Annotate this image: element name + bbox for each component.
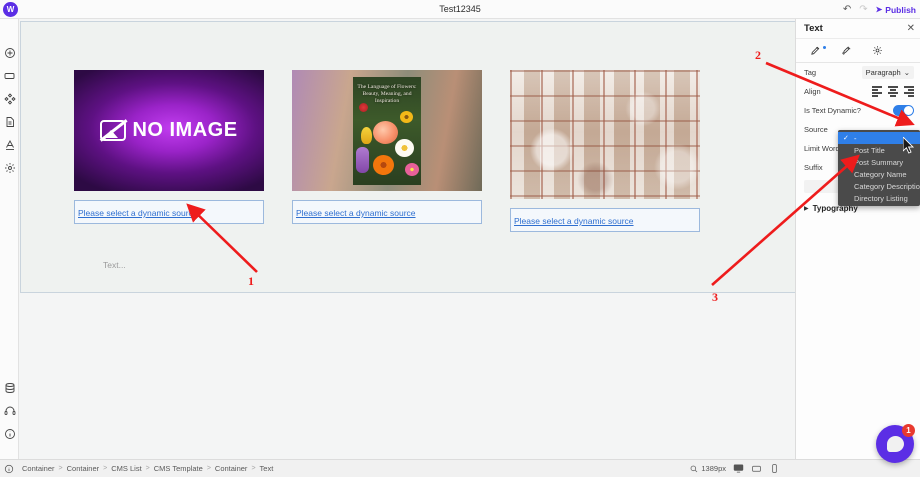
panel-title: Text xyxy=(804,23,823,34)
breadcrumb-separator: > xyxy=(207,465,211,472)
flower-shape xyxy=(395,139,414,157)
zoom-value: 1389px xyxy=(701,464,726,473)
card-media: The Language of Flowers: Beauty, Meaning… xyxy=(292,70,482,191)
image-off-icon xyxy=(100,120,126,141)
breadcrumb-separator: > xyxy=(103,465,107,472)
rocket-icon: ➤ xyxy=(876,5,883,14)
row-is-text-dynamic: Is Text Dynamic? xyxy=(796,101,920,120)
row-tag: Tag Paragraph ⌄ xyxy=(796,63,920,82)
cms-item-card[interactable]: The Language of Flowers: Beauty, Meaning… xyxy=(292,70,482,224)
book-cover-image: The Language of Flowers: Beauty, Meaning… xyxy=(353,77,421,185)
zoom-indicator[interactable]: 1389px xyxy=(690,464,726,473)
left-rail-top-group xyxy=(0,41,19,179)
align-right-icon[interactable] xyxy=(902,86,914,98)
dynamic-source-link[interactable]: Please select a dynamic source xyxy=(514,216,634,226)
redo-icon[interactable]: ↷ xyxy=(859,4,867,15)
card-media xyxy=(510,70,700,199)
info-circle-icon[interactable] xyxy=(0,422,19,445)
add-element-icon[interactable] xyxy=(0,41,19,64)
text-a-icon[interactable] xyxy=(0,133,19,156)
flower-shape xyxy=(373,155,394,175)
support-headset-icon[interactable] xyxy=(0,399,19,422)
caret-right-icon: ▶ xyxy=(804,205,809,212)
tab-active-dot xyxy=(823,46,826,49)
close-icon[interactable]: ✕ xyxy=(907,23,915,34)
dynamic-source-link[interactable]: Please select a dynamic source xyxy=(78,208,198,218)
annotation-number-1: 1 xyxy=(248,274,254,289)
magnifier-icon xyxy=(690,465,698,473)
cms-item-card[interactable]: NO IMAGE Please select a dynamic source xyxy=(74,70,264,224)
dropdown-option[interactable]: Category Name xyxy=(838,168,920,180)
source-label: Source xyxy=(804,125,828,134)
breadcrumb: Container > Container > CMS List > CMS T… xyxy=(22,464,273,473)
cms-item-card[interactable]: Please select a dynamic source xyxy=(510,70,700,232)
no-image-placeholder: NO IMAGE xyxy=(74,70,264,191)
row-align: Align xyxy=(796,82,920,101)
dropdown-option[interactable]: Directory Listing xyxy=(838,192,920,204)
bottom-bar: Container > Container > CMS List > CMS T… xyxy=(0,459,920,477)
dynamic-source-link[interactable]: Please select a dynamic source xyxy=(296,208,416,218)
panel-tabs xyxy=(796,39,920,63)
tablet-icon[interactable] xyxy=(751,463,762,474)
breadcrumb-item[interactable]: Text xyxy=(260,464,274,473)
bottom-bar-right: 1389px xyxy=(690,463,780,474)
app-root: W Test12345 ↶ ↷ ➤ Publish xyxy=(0,0,920,477)
breadcrumb-separator: > xyxy=(146,465,150,472)
chat-widget[interactable]: 1 xyxy=(876,425,914,463)
chat-badge: 1 xyxy=(902,424,915,437)
undo-icon[interactable]: ↶ xyxy=(843,4,851,15)
panel-header: Text ✕ xyxy=(796,19,920,39)
mobile-icon[interactable] xyxy=(769,463,780,474)
no-image-label: NO IMAGE xyxy=(132,119,237,142)
dynamic-source-link-box[interactable]: Please select a dynamic source xyxy=(74,200,264,224)
align-button-group xyxy=(872,86,914,98)
tag-select[interactable]: Paragraph ⌄ xyxy=(862,66,914,79)
left-rail-bottom-group xyxy=(0,376,19,445)
left-rail xyxy=(0,19,19,477)
align-label: Align xyxy=(804,87,821,96)
settings-gear-icon[interactable] xyxy=(0,156,19,179)
top-bar: W Test12345 ↶ ↷ ➤ Publish xyxy=(0,0,920,19)
breadcrumb-separator: > xyxy=(251,465,255,472)
tag-label: Tag xyxy=(804,68,816,77)
desktop-icon[interactable] xyxy=(733,463,744,474)
dynamic-source-link-box[interactable]: Please select a dynamic source xyxy=(510,208,700,232)
publish-button[interactable]: ➤ Publish xyxy=(876,5,916,15)
flower-shape xyxy=(356,147,369,173)
annotation-number-3: 3 xyxy=(712,290,718,305)
info-circle-icon[interactable] xyxy=(4,464,14,474)
is-text-dynamic-label: Is Text Dynamic? xyxy=(804,106,861,115)
top-bar-actions: ↶ ↷ ➤ Publish xyxy=(843,0,916,19)
align-center-icon[interactable] xyxy=(887,86,899,98)
pages-icon[interactable] xyxy=(0,110,19,133)
dropdown-option[interactable]: Category Description xyxy=(838,180,920,192)
flower-photo: The Language of Flowers: Beauty, Meaning… xyxy=(292,70,482,191)
text-element-placeholder[interactable]: Text... xyxy=(103,260,126,270)
breadcrumb-item[interactable]: Container xyxy=(22,464,55,473)
align-left-icon[interactable] xyxy=(872,86,884,98)
dropdown-option[interactable]: Post Title xyxy=(838,144,920,156)
chat-bubble-icon xyxy=(887,436,904,452)
cms-template-stage[interactable]: NO IMAGE Please select a dynamic source … xyxy=(20,21,808,293)
suffix-label: Suffix xyxy=(804,163,823,172)
chevron-down-icon: ⌄ xyxy=(904,68,910,77)
tag-value: Paragraph xyxy=(866,68,901,77)
flower-shape xyxy=(405,163,419,176)
components-grid-dots-icon[interactable] xyxy=(0,87,19,110)
dropdown-option[interactable]: - xyxy=(838,132,920,144)
dropdown-option[interactable]: Post Summary xyxy=(838,156,920,168)
breadcrumb-separator: > xyxy=(59,465,63,472)
source-select-menu[interactable]: - Post Title Post Summary Category Name … xyxy=(838,130,920,206)
tab-settings[interactable] xyxy=(862,39,893,63)
canvas-area[interactable]: NO IMAGE Please select a dynamic source … xyxy=(19,19,920,459)
publish-label: Publish xyxy=(885,5,916,15)
container-icon[interactable] xyxy=(0,64,19,87)
flower-shape xyxy=(361,127,372,144)
tab-style[interactable] xyxy=(800,39,831,63)
open-books-photo xyxy=(510,70,700,199)
properties-panel: Text ✕ Tag Paragraph ⌄ Align xyxy=(795,19,920,477)
is-text-dynamic-toggle[interactable] xyxy=(893,105,914,116)
breadcrumb-item[interactable]: Container xyxy=(215,464,248,473)
tab-effects[interactable] xyxy=(831,39,862,63)
annotation-number-2: 2 xyxy=(755,48,761,63)
cms-list: NO IMAGE Please select a dynamic source … xyxy=(74,70,700,232)
card-media: NO IMAGE xyxy=(74,70,264,191)
flower-shape xyxy=(400,111,413,123)
breadcrumb-item[interactable]: Container xyxy=(67,464,100,473)
document-title: Test12345 xyxy=(0,0,920,19)
flower-shape xyxy=(373,121,398,144)
book-cover-title: The Language of Flowers: Beauty, Meaning… xyxy=(357,84,417,105)
database-icon[interactable] xyxy=(0,376,19,399)
breadcrumb-item[interactable]: CMS List xyxy=(111,464,141,473)
dynamic-source-link-box[interactable]: Please select a dynamic source xyxy=(292,200,482,224)
breadcrumb-item[interactable]: CMS Template xyxy=(154,464,203,473)
